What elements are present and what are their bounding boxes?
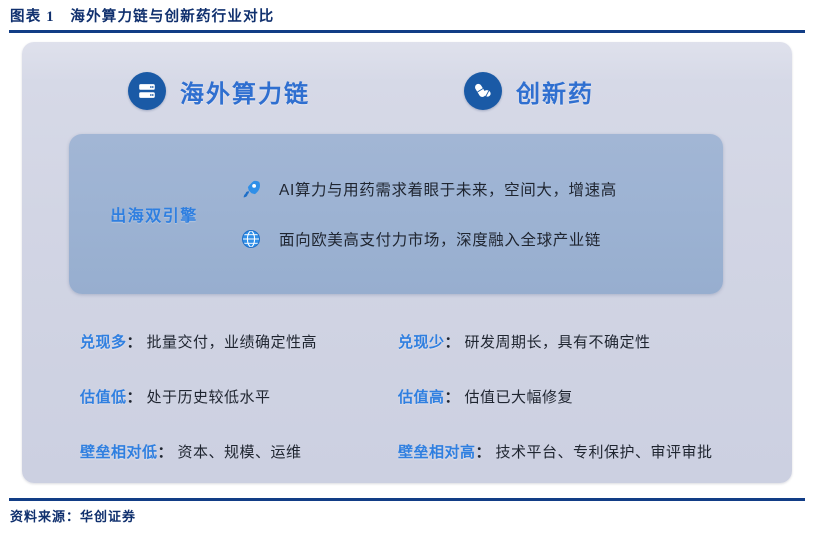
cell-separator: ： bbox=[445, 331, 465, 352]
rocket-icon bbox=[239, 177, 263, 201]
comparison-cell-pharma: 估值高 ： 估值已大幅修复 bbox=[398, 369, 573, 424]
page-title: 图表 1 海外算力链与创新药行业对比 bbox=[0, 5, 274, 26]
footer-divider bbox=[9, 498, 805, 501]
column-heading-label: 创新药 bbox=[516, 74, 594, 109]
comparison-table: 兑现多 ： 批量交付，业绩确定性高 兑现少 ： 研发周期长，具有不确定性 估值低… bbox=[22, 314, 792, 479]
table-row: 估值低 ： 处于历史较低水平 估值高 ： 估值已大幅修复 bbox=[22, 369, 792, 424]
comparison-cell-compute: 壁垒相对低 ： 资本、规模、运维 bbox=[80, 424, 302, 479]
cell-separator: ： bbox=[445, 386, 465, 407]
engine-point-text: AI算力与用药需求着眼于未来，空间大，增速高 bbox=[279, 178, 617, 200]
source-note: 资料来源：华创证券 bbox=[10, 506, 136, 525]
engine-card-label: 出海双引擎 bbox=[69, 202, 239, 226]
pill-icon bbox=[464, 72, 502, 110]
cell-separator: ： bbox=[476, 441, 496, 462]
server-icon bbox=[128, 72, 166, 110]
cell-text: 估值已大幅修复 bbox=[465, 386, 574, 407]
comparison-cell-pharma: 兑现少 ： 研发周期长，具有不确定性 bbox=[398, 314, 651, 369]
engine-point: AI算力与用药需求着眼于未来，空间大，增速高 bbox=[239, 177, 703, 201]
globe-icon bbox=[239, 227, 263, 251]
table-row: 兑现多 ： 批量交付，业绩确定性高 兑现少 ： 研发周期长，具有不确定性 bbox=[22, 314, 792, 369]
cell-text: 处于历史较低水平 bbox=[147, 386, 271, 407]
cell-label: 壁垒相对低 bbox=[80, 441, 158, 462]
content-panel: 海外算力链 创新药 出海双引擎 bbox=[22, 42, 792, 483]
cell-label: 估值低 bbox=[80, 386, 127, 407]
title-divider bbox=[9, 30, 805, 33]
column-heading-label: 海外算力链 bbox=[180, 74, 310, 109]
comparison-cell-compute: 估值低 ： 处于历史较低水平 bbox=[80, 369, 271, 424]
column-headings: 海外算力链 创新药 bbox=[22, 72, 792, 132]
cell-text: 研发周期长，具有不确定性 bbox=[465, 331, 651, 352]
figure-title-bar: 图表 1 海外算力链与创新药行业对比 bbox=[0, 0, 814, 31]
cell-separator: ： bbox=[158, 441, 178, 462]
engine-point-text: 面向欧美高支付力市场，深度融入全球产业链 bbox=[279, 228, 601, 250]
cell-label: 兑现多 bbox=[80, 331, 127, 352]
table-row: 壁垒相对低 ： 资本、规模、运维 壁垒相对高 ： 技术平台、专利保护、审评审批 bbox=[22, 424, 792, 479]
cell-label: 壁垒相对高 bbox=[398, 441, 476, 462]
cell-label: 估值高 bbox=[398, 386, 445, 407]
cell-text: 批量交付，业绩确定性高 bbox=[147, 331, 318, 352]
cell-separator: ： bbox=[127, 386, 147, 407]
cell-label: 兑现少 bbox=[398, 331, 445, 352]
cell-separator: ： bbox=[127, 331, 147, 352]
cell-text: 技术平台、专利保护、审评审批 bbox=[496, 441, 713, 462]
column-heading-compute: 海外算力链 bbox=[128, 72, 310, 110]
comparison-cell-pharma: 壁垒相对高 ： 技术平台、专利保护、审评审批 bbox=[398, 424, 713, 479]
engine-card: 出海双引擎 AI算力与用药需求着眼于未来，空间大，增速高 bbox=[69, 134, 723, 294]
engine-card-points: AI算力与用药需求着眼于未来，空间大，增速高 面向欧美高支付力市场，深度融入全球… bbox=[239, 177, 723, 251]
engine-point: 面向欧美高支付力市场，深度融入全球产业链 bbox=[239, 227, 703, 251]
comparison-cell-compute: 兑现多 ： 批量交付，业绩确定性高 bbox=[80, 314, 317, 369]
column-heading-pharma: 创新药 bbox=[464, 72, 594, 110]
cell-text: 资本、规模、运维 bbox=[178, 441, 302, 462]
